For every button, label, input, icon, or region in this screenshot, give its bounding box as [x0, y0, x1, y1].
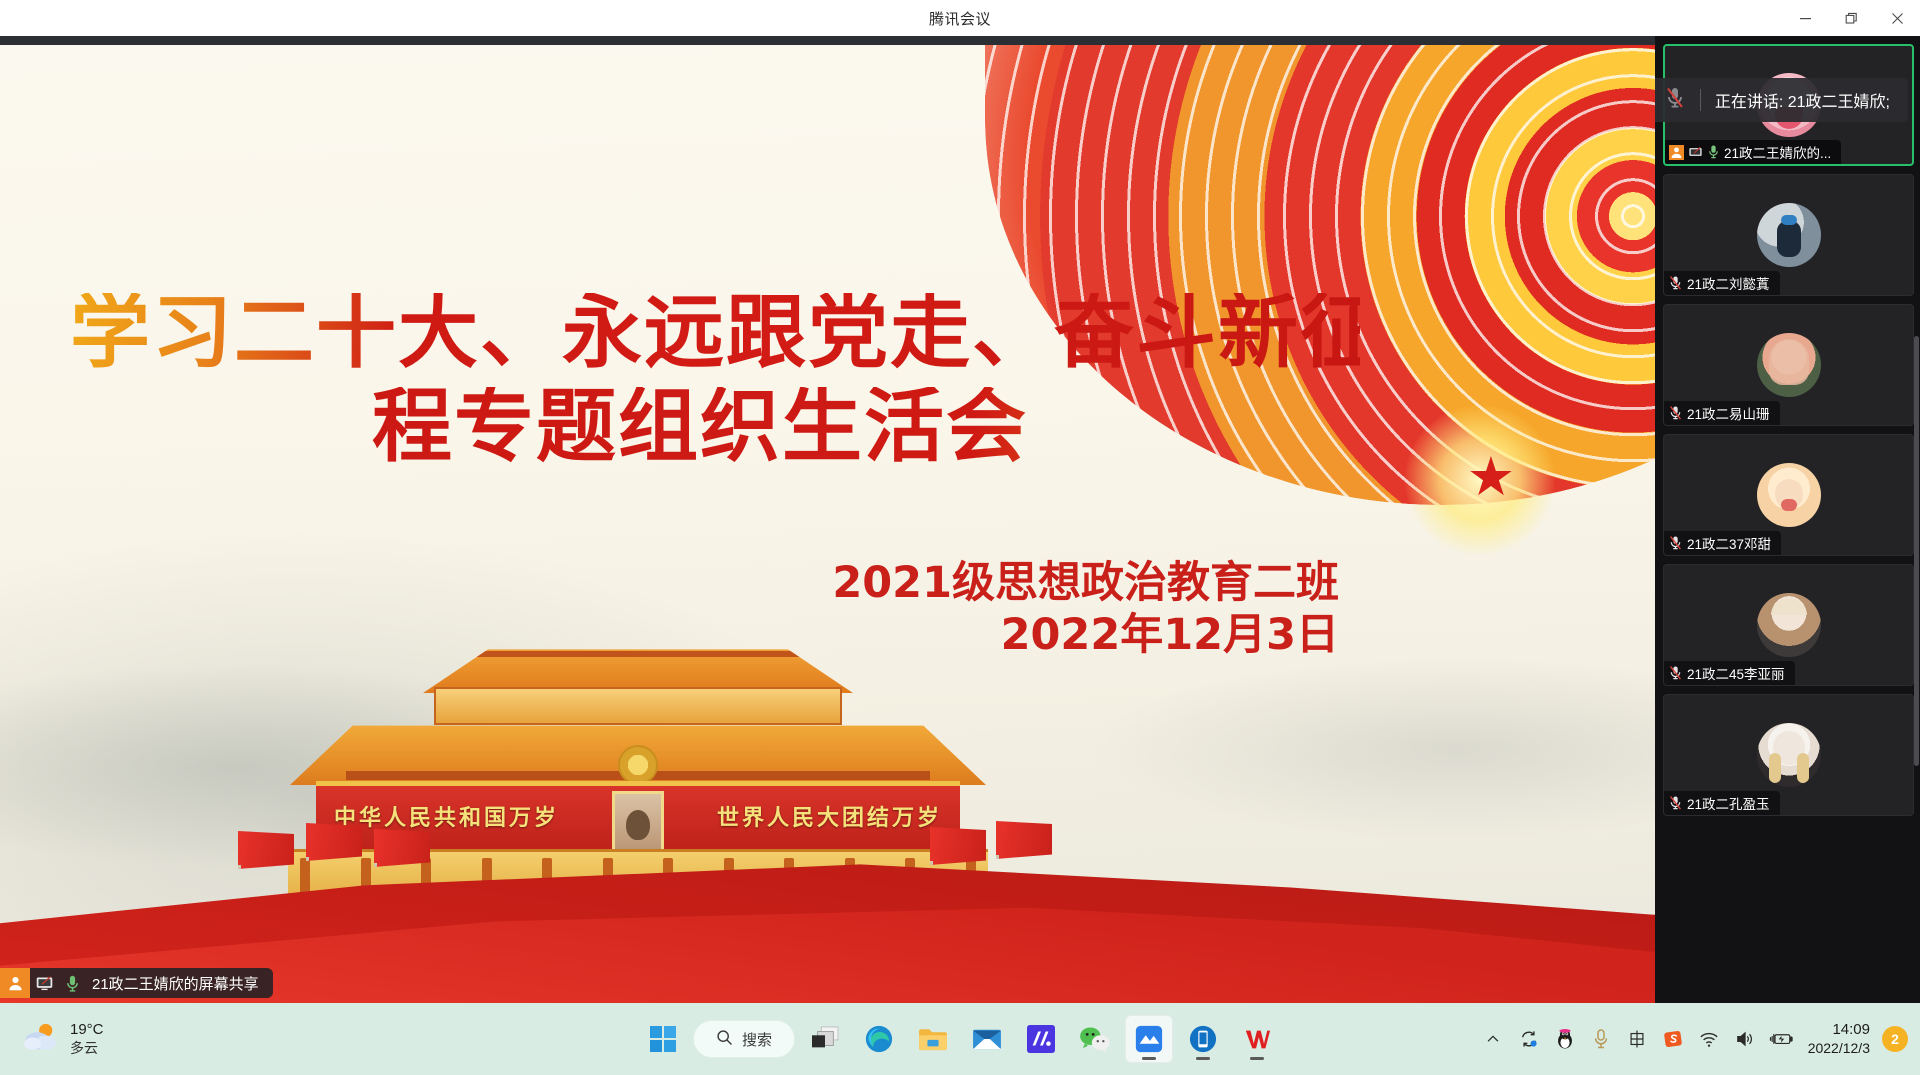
- window-title-bar: 腾讯会议: [0, 0, 1920, 36]
- sync-icon[interactable]: [1512, 1019, 1546, 1059]
- avatar: [1757, 463, 1821, 527]
- start-button[interactable]: [639, 1015, 687, 1063]
- share-owner-label: 21政二王婧欣的屏幕共享: [92, 973, 259, 994]
- edge-button[interactable]: [855, 1015, 903, 1063]
- participant-name: 21政二刘懿蒖: [1687, 273, 1770, 293]
- slide-title-line-1: 学习二十大、永远跟党走、奋斗新征: [70, 293, 1360, 373]
- search-icon: [716, 1029, 733, 1050]
- participant-tile[interactable]: 21政二孔盈玉: [1663, 694, 1914, 816]
- chinese-ime-icon[interactable]: [1620, 1019, 1654, 1059]
- gate-upper-roof: [388, 641, 888, 693]
- microphone-muted-icon: [1668, 275, 1683, 291]
- microphone-muted-icon: [1668, 405, 1683, 421]
- taskbar-clock[interactable]: 14:09 2022/12/3: [1808, 1021, 1870, 1057]
- search-input[interactable]: 搜索: [693, 1020, 795, 1058]
- avatar: [1757, 723, 1821, 787]
- microphone-muted-icon: [1664, 86, 1686, 115]
- participant-rail-scrollbar[interactable]: [1914, 336, 1919, 766]
- screen-share-icon: [35, 974, 54, 993]
- microphone-muted-icon: [1668, 665, 1683, 681]
- participant-tile[interactable]: 21政二刘懿蒖: [1663, 174, 1914, 296]
- task-view-button[interactable]: [801, 1015, 849, 1063]
- clock-date: 2022/12/3: [1808, 1040, 1870, 1058]
- screen-share-icon: [1688, 145, 1703, 160]
- participant-name-bar: 21政二王婧欣的...: [1665, 140, 1841, 164]
- microphone-icon: [1707, 144, 1720, 160]
- participant-name-bar: 21政二37邓甜: [1664, 531, 1781, 555]
- gate-upper-body: [434, 687, 842, 725]
- avatar: [1757, 203, 1821, 267]
- participant-name: 21政二易山珊: [1687, 403, 1770, 423]
- host-badge-icon: [0, 968, 30, 998]
- slide-title: 学习二十大、永远跟党走、奋斗新征 程专题组织生活会: [70, 293, 1360, 467]
- weather-temperature: 19°C: [70, 1021, 104, 1040]
- avatar: [1757, 593, 1821, 657]
- participant-name-bar: 21政二45李亚丽: [1664, 661, 1795, 685]
- slide-title-line-2: 程专题组织生活会: [70, 387, 1360, 467]
- restore-button[interactable]: [1828, 0, 1874, 36]
- participant-rail[interactable]: 正在讲话: 21政二王婧欣;: [1655, 36, 1920, 1003]
- flag-icon: [238, 831, 294, 869]
- window-controls: [1782, 0, 1920, 36]
- window-title: 腾讯会议: [929, 8, 991, 29]
- tencent-meeting-button[interactable]: [1125, 1015, 1173, 1063]
- participant-tile[interactable]: 21政二易山珊: [1663, 304, 1914, 426]
- share-top-strip: [0, 36, 1655, 45]
- participant-name-bar: 21政二孔盈玉: [1664, 791, 1780, 815]
- minimize-button[interactable]: [1782, 0, 1828, 36]
- clock-time: 14:09: [1808, 1021, 1870, 1040]
- speaking-label: 正在讲话: 21政二王婧欣;: [1715, 88, 1890, 112]
- weather-condition: 多云: [70, 1040, 104, 1058]
- speaking-toast: 正在讲话: 21政二王婧欣;: [1655, 78, 1908, 122]
- system-tray: 14:09 2022/12/3 2: [1476, 1003, 1920, 1075]
- search-placeholder: 搜索: [742, 1029, 772, 1050]
- participant-name: 21政二王婧欣的...: [1724, 142, 1831, 162]
- flag-icon: [306, 823, 362, 861]
- screen-share-owner-chip: 21政二王婧欣的屏幕共享: [0, 968, 273, 998]
- toast-divider: [1700, 89, 1701, 111]
- participant-name: 21政二37邓甜: [1687, 533, 1771, 553]
- notification-badge[interactable]: 2: [1882, 1026, 1908, 1052]
- chevron-up-icon[interactable]: [1476, 1019, 1510, 1059]
- qq-penguin-icon[interactable]: [1548, 1019, 1582, 1059]
- participant-name-bar: 21政二刘懿蒖: [1664, 271, 1780, 295]
- wifi-icon[interactable]: [1692, 1019, 1726, 1059]
- close-button[interactable]: [1874, 0, 1920, 36]
- participant-name: 21政二45李亚丽: [1687, 663, 1785, 683]
- host-badge-icon: [1669, 145, 1684, 160]
- flag-icon: [374, 829, 430, 867]
- weather-widget[interactable]: 19°C 多云: [22, 1021, 104, 1058]
- flag-icon: [996, 821, 1052, 859]
- file-explorer-button[interactable]: [909, 1015, 957, 1063]
- meeting-window-body: ★ 学习二十大、永远跟党走、奋斗新征 程专题组织生活会 2021级思想政治教育二…: [0, 36, 1920, 1003]
- microphone-muted-icon: [1668, 535, 1683, 551]
- microphone-icon: [64, 974, 81, 993]
- participant-tile[interactable]: 21政二45李亚丽: [1663, 564, 1914, 686]
- participant-name-bar: 21政二易山珊: [1664, 401, 1780, 425]
- windows-taskbar: 19°C 多云 搜索: [0, 1003, 1920, 1075]
- avatar: [1757, 333, 1821, 397]
- mail-button[interactable]: [963, 1015, 1011, 1063]
- presentation-slide: ★ 学习二十大、永远跟党走、奋斗新征 程专题组织生活会 2021级思想政治教育二…: [0, 45, 1655, 1003]
- microphone-muted-icon: [1668, 795, 1683, 811]
- app-purple-button[interactable]: [1017, 1015, 1065, 1063]
- participant-name: 21政二孔盈玉: [1687, 793, 1770, 813]
- battery-charging-icon[interactable]: [1764, 1019, 1798, 1059]
- partly-cloudy-icon: [22, 1021, 60, 1058]
- phone-link-button[interactable]: [1179, 1015, 1227, 1063]
- wps-button[interactable]: [1233, 1015, 1281, 1063]
- flag-icon: [930, 827, 986, 865]
- taskbar-app-row: 搜索: [639, 1015, 1281, 1063]
- microphone-icon[interactable]: [1584, 1019, 1618, 1059]
- shared-screen-stage[interactable]: ★ 学习二十大、永远跟党走、奋斗新征 程专题组织生活会 2021级思想政治教育二…: [0, 36, 1655, 1003]
- weather-text: 19°C 多云: [70, 1021, 104, 1057]
- participant-tile[interactable]: 21政二37邓甜: [1663, 434, 1914, 556]
- wechat-button[interactable]: [1071, 1015, 1119, 1063]
- sogou-icon[interactable]: [1656, 1019, 1690, 1059]
- speaker-icon[interactable]: [1728, 1019, 1762, 1059]
